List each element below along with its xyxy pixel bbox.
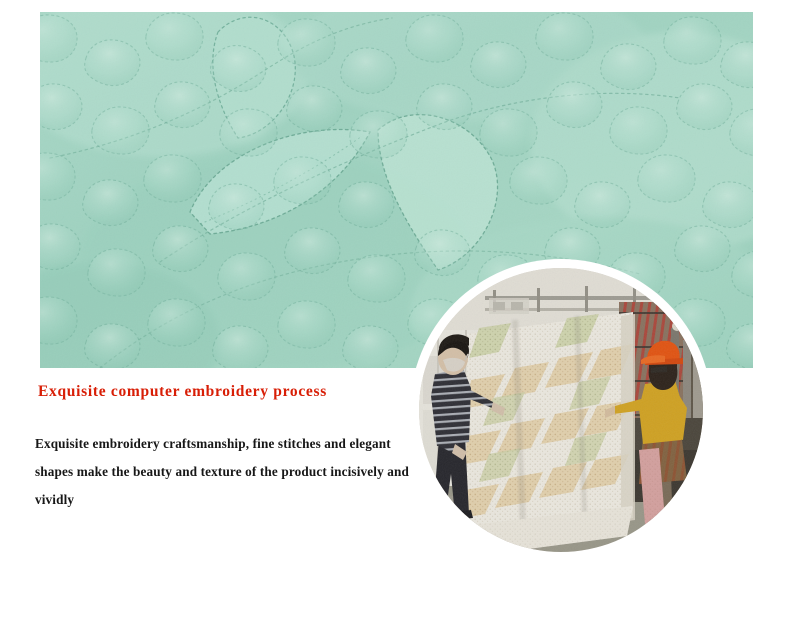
product-detail-page: Exquisite computer embroidery process Ex… [0,0,790,618]
factory-quilt-inspection-photo [419,268,703,552]
section-headline: Exquisite computer embroidery process [38,383,327,401]
section-body-text: Exquisite embroidery craftsmanship, fine… [35,430,427,514]
factory-photo-illustration [419,268,703,552]
